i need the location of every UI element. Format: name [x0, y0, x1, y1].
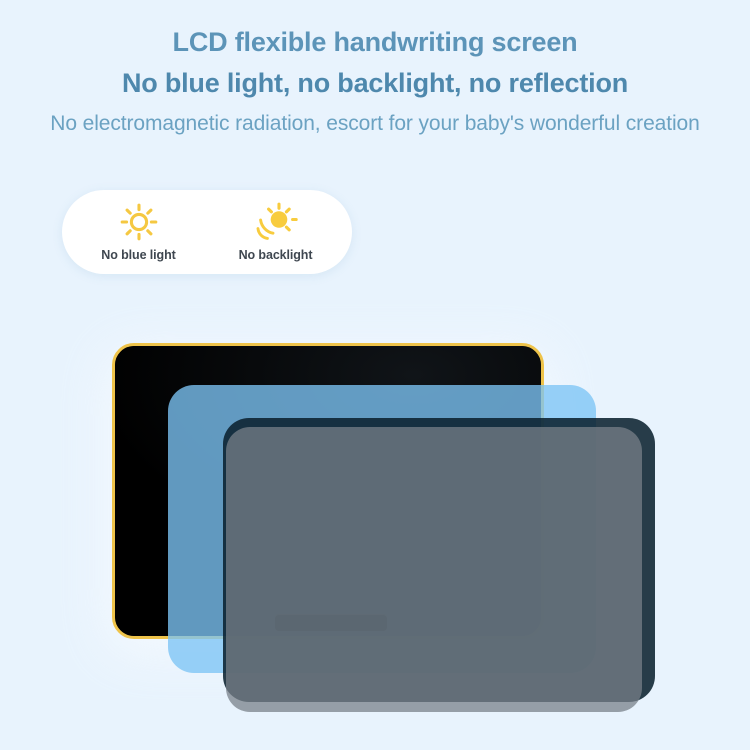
- feature-badge-pill: No blue light No backlight: [62, 190, 352, 274]
- feature-label: No backlight: [239, 248, 313, 262]
- page-title-line-2: No blue light, no backlight, no reflecti…: [0, 60, 750, 101]
- feature-no-backlight: No backlight: [211, 202, 341, 262]
- page-title-line-1: LCD flexible handwriting screen: [0, 26, 750, 60]
- sun-filled-rays-icon: [254, 202, 298, 244]
- page-subtitle: No electromagnetic radiation, escort for…: [0, 101, 750, 138]
- sun-outline-icon: [117, 202, 161, 244]
- feature-label: No blue light: [101, 248, 175, 262]
- header-text-block: LCD flexible handwriting screen No blue …: [0, 0, 750, 139]
- feature-no-blue-light: No blue light: [74, 202, 204, 262]
- gray-sheet-layer: [226, 427, 642, 712]
